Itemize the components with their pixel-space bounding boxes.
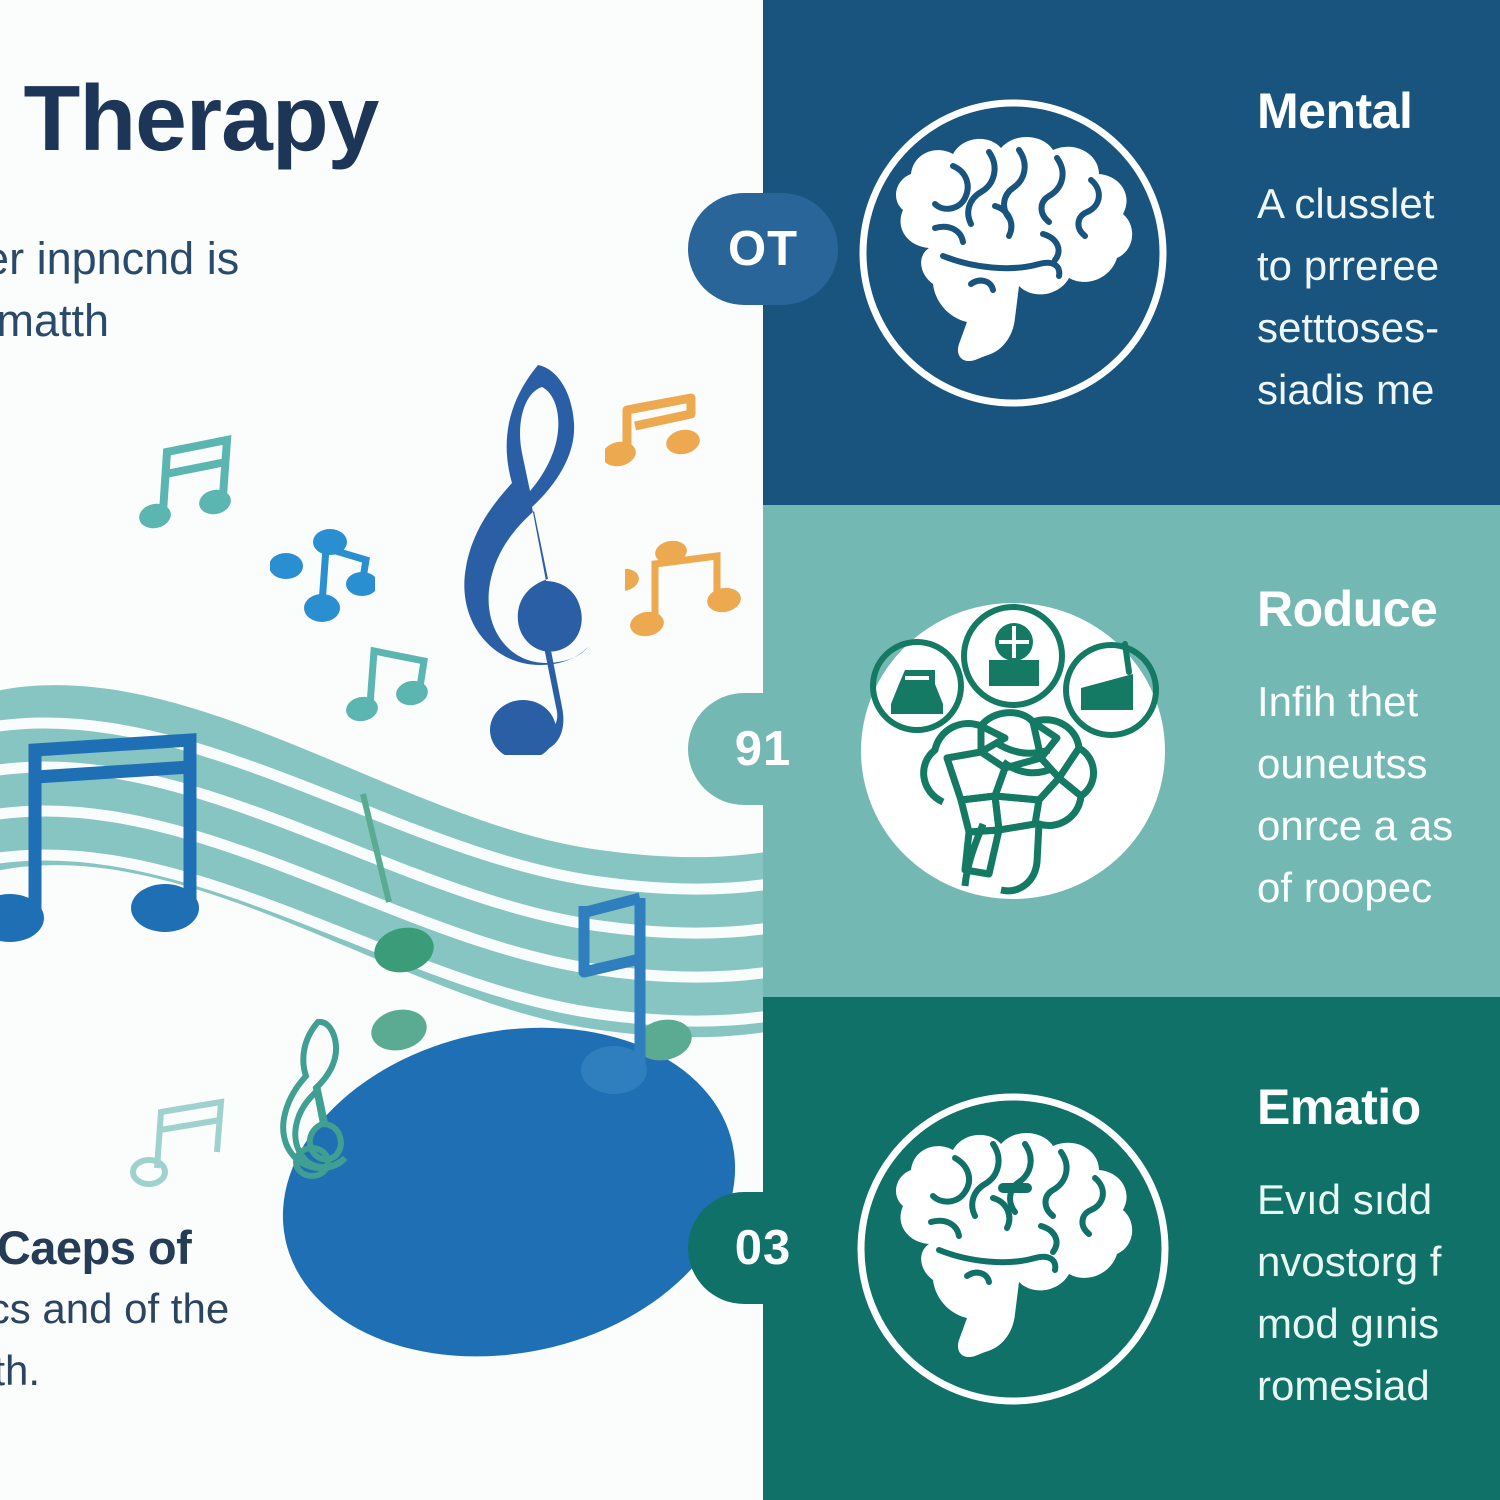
benefit-panel-3-heading: Ematio [1257, 1080, 1500, 1135]
bottom-body-line1: aics and of the [0, 1278, 229, 1340]
music-note-amber-bottom [625, 530, 745, 640]
benefit-panel-1-heading: Mental [1257, 84, 1500, 139]
benefit-panel-2[interactable]: Roduce Infih thet ouneutss onrce a as of… [763, 505, 1500, 997]
benefit-panel-2-body-line1: Infih thet [1257, 671, 1500, 733]
music-note-blue-beamed [0, 725, 230, 975]
music-note-stem-teal [355, 790, 400, 910]
benefit-panel-3-text: Ematio Evıd sıdd nvostorg f mod gınis ro… [1257, 1080, 1500, 1418]
benefit-panel-3-body-line3: mod gınis [1257, 1293, 1500, 1355]
benefit-panel-1-body-line1: A clusslet [1257, 173, 1500, 235]
page-title: s Therapy [0, 72, 378, 165]
page-subtitle-line2: Mematth [0, 290, 239, 352]
music-note-blue-right [540, 880, 660, 1120]
benefit-panel-3-body: Evıd sıdd nvostorg f mod gınis romesiad [1257, 1169, 1500, 1418]
benefit-panel-2-body-line3: onrce a as [1257, 796, 1500, 858]
step-badge-3[interactable]: 03 [688, 1192, 838, 1304]
benefit-panel-1-text: Mental A clusslet to prreree setttoses- … [1257, 84, 1500, 422]
benefit-panel-3[interactable]: Ematio Evıd sıdd nvostorg f mod gınis ro… [763, 997, 1500, 1500]
step-badge-2[interactable]: 91 [688, 693, 838, 805]
benefit-panels: Mental A clusslet to prreree setttoses- … [763, 0, 1500, 1500]
benefit-panel-3-body-line4: romesiad [1257, 1355, 1500, 1417]
page-subtitle: noer inpncnd is Mematth [0, 228, 239, 352]
music-note-teal-upper-left [135, 430, 245, 540]
benefit-panel-2-body-line4: of roopec [1257, 858, 1500, 920]
step-badge-1[interactable]: OT [688, 193, 838, 305]
brain-icon [843, 88, 1183, 418]
bottom-heading: d Caeps of [0, 1218, 229, 1278]
treble-clef-small-icon [268, 1010, 363, 1180]
music-note-blue-middle [270, 520, 375, 625]
benefit-panel-3-body-line1: Evıd sıdd [1257, 1169, 1500, 1231]
benefit-panel-1-body: A clusslet to prreree setttoses- siadis … [1257, 173, 1500, 422]
bottom-body-line2: arth. [0, 1340, 229, 1402]
benefit-panel-1-body-line3: setttoses- [1257, 297, 1500, 359]
page-subtitle-line1: noer inpncnd is [0, 228, 239, 290]
benefit-panel-2-text: Roduce Infih thet ouneutss onrce a as of… [1257, 582, 1500, 920]
benefit-panel-2-heading: Roduce [1257, 582, 1500, 637]
infographic-canvas: s Therapy noer inpncnd is Mematth c d Ca… [0, 0, 1500, 1500]
music-note-teal-lower [340, 635, 435, 730]
brain-icon [843, 1084, 1183, 1414]
benefit-panel-2-body-line2: ouneutss [1257, 733, 1500, 795]
bottom-kicker: c [0, 1166, 229, 1218]
hero-section: s Therapy noer inpncnd is Mematth c d Ca… [0, 0, 763, 1500]
benefit-panel-1-body-line2: to prreree [1257, 235, 1500, 297]
bottom-body: aics and of the arth. [0, 1278, 229, 1402]
music-note-amber-top [605, 390, 705, 475]
benefit-panel-3-body-line2: nvostorg f [1257, 1231, 1500, 1293]
brain-network-icon [843, 586, 1183, 916]
music-note-head-green-2 [365, 1000, 435, 1060]
bottom-text-block: c d Caeps of aics and of the arth. [0, 1166, 229, 1402]
benefit-panel-1[interactable]: Mental A clusslet to prreree setttoses- … [763, 0, 1500, 505]
benefit-panel-1-body-line4: siadis me [1257, 359, 1500, 421]
benefit-panel-2-body: Infih thet ouneutss onrce a as of roopec [1257, 671, 1500, 920]
